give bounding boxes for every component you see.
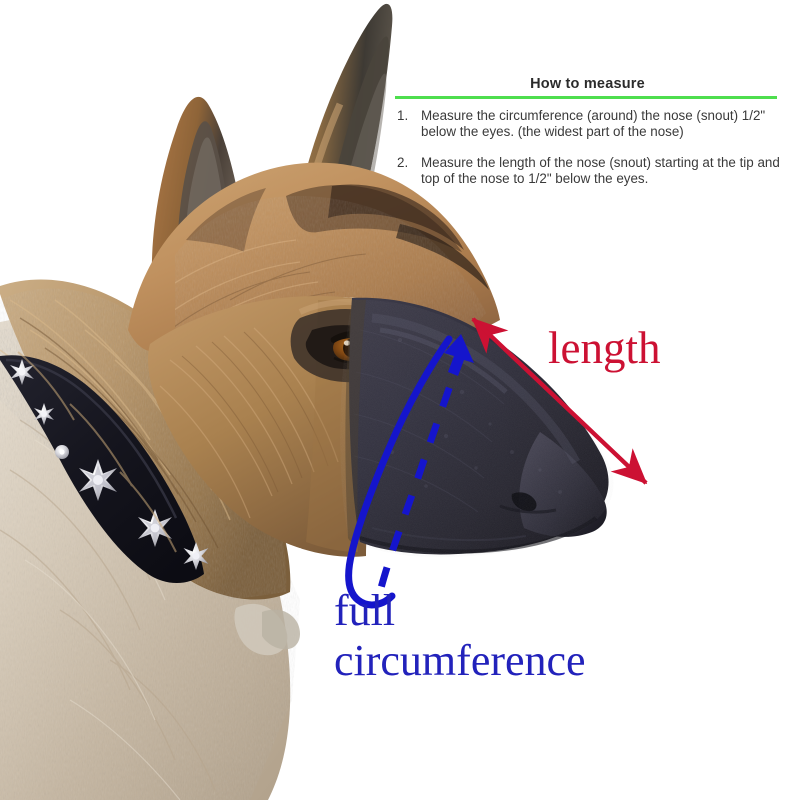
full-circumference-label-line1: full [334,586,586,636]
instruction-step-1-number: 1. [397,108,408,124]
instruction-step-1-text: Measure the circumference (around) the n… [421,108,765,139]
instructions-divider [395,96,777,99]
measurement-guide-image: How to measure 1. Measure the circumfere… [0,0,800,800]
length-label: length [548,326,660,371]
instructions-list: 1. Measure the circumference (around) th… [395,108,780,188]
instruction-step-1: 1. Measure the circumference (around) th… [395,108,780,141]
instruction-step-2-number: 2. [397,155,408,171]
instructions-title: How to measure [395,76,780,96]
instruction-step-2-text: Measure the length of the nose (snout) s… [421,155,780,186]
full-circumference-label: full circumference [334,586,586,686]
full-circumference-label-line2: circumference [334,636,586,686]
instructions-panel: How to measure 1. Measure the circumfere… [395,76,780,202]
instruction-step-2: 2. Measure the length of the nose (snout… [395,155,780,188]
